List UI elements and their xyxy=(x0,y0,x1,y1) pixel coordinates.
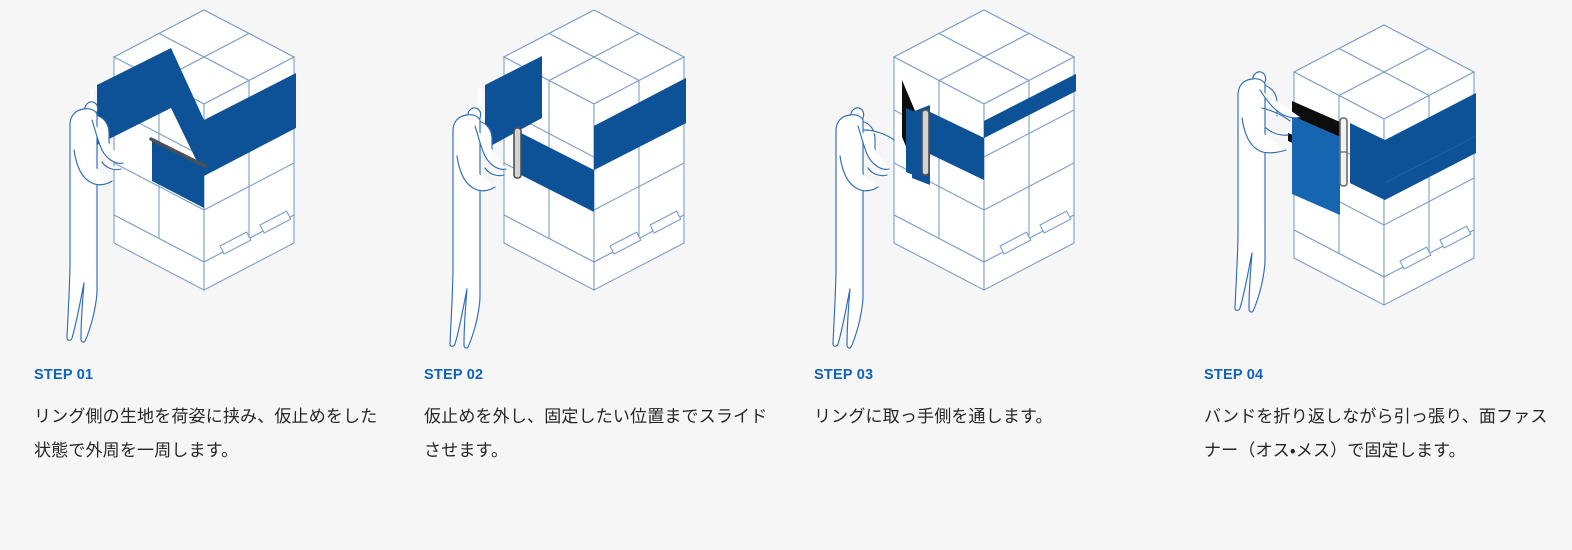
step-label-1: STEP 01 xyxy=(34,368,93,383)
worker-figure-icon xyxy=(833,108,894,348)
step-illustration-4 xyxy=(1204,0,1554,368)
worker-figure-icon xyxy=(1235,72,1300,312)
step-label-3: STEP 03 xyxy=(814,368,873,383)
band-ring-buckle-icon xyxy=(922,110,929,175)
step-card-2: STEP 02 仮止めを外し、固定したい位置までスライドさせます。 xyxy=(424,0,774,469)
step-illustration-2 xyxy=(424,0,774,368)
step-label-4: STEP 04 xyxy=(1204,368,1263,383)
step-body-3: リングに取っ手側を通します。 xyxy=(814,400,1162,435)
step-label-2: STEP 02 xyxy=(424,368,483,383)
step-illustration-3 xyxy=(814,0,1164,368)
step-card-4: STEP 04 バンドを折り返しながら引っ張り、面ファスナー（オス・メス）で固定… xyxy=(1204,0,1554,469)
step-body-4: バンドを折り返しながら引っ張り、面ファスナー（オス・メス）で固定します。 xyxy=(1204,400,1552,470)
step-card-3: STEP 03 リングに取っ手側を通します。 xyxy=(814,0,1164,434)
step-card-1: STEP 01 リング側の生地を荷姿に挟み、仮止めをした状態で外周を一周します。 xyxy=(34,0,384,469)
band-ring-buckle-icon xyxy=(514,128,521,178)
step-body-2: 仮止めを外し、固定したい位置までスライドさせます。 xyxy=(424,400,772,470)
band-ring-buckle-icon xyxy=(1340,118,1347,186)
step-illustration-1 xyxy=(34,0,384,368)
worker-figure-icon xyxy=(450,108,506,348)
step-body-1: リング側の生地を荷姿に挟み、仮止めをした状態で外周を一周します。 xyxy=(34,400,382,470)
steps-board: STEP 01 リング側の生地を荷姿に挟み、仮止めをした状態で外周を一周します。 xyxy=(0,0,1572,550)
